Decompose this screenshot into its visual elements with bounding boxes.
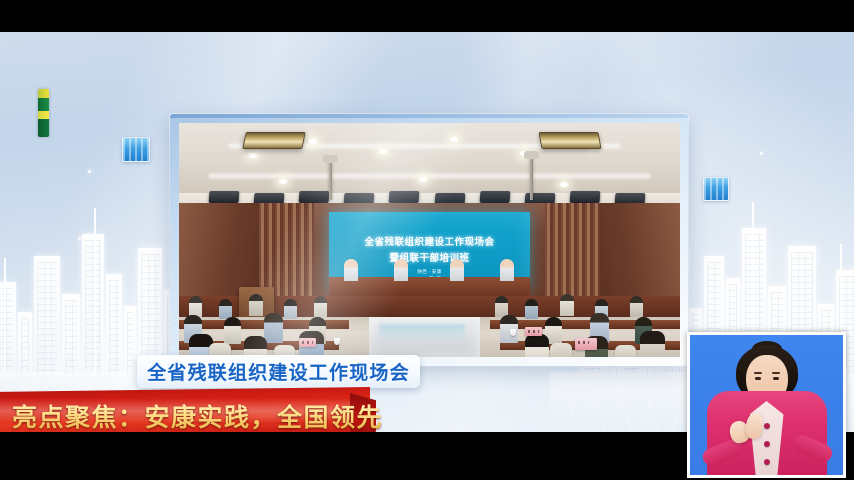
water-cup (510, 329, 516, 336)
lower-third-ribbon: 亮点聚焦：安康实践，全国领先 (0, 387, 370, 432)
sign-language-window (687, 332, 846, 478)
wood-panel-left (179, 203, 264, 297)
blue-glyph-right (703, 177, 729, 201)
ceiling-lamp (538, 132, 601, 149)
channel-logo-icon (38, 89, 49, 137)
broadcast-screen: 全省残联组织建设工作现场会 暨组联干部培训班 陕西 · 安康 2024年8月 (0, 0, 854, 480)
conference-photo-frame: 全省残联组织建设工作现场会 暨组联干部培训班 陕西 · 安康 2024年8月 (170, 114, 688, 366)
letterbox-top-bar (0, 0, 854, 32)
floor-reflection (379, 324, 464, 343)
blue-glyph-left (122, 137, 150, 162)
lower-third-title-pill: 全省残联组织建设工作现场会 (137, 355, 420, 388)
mic-mast (329, 160, 332, 200)
stage-curtain-right (545, 203, 600, 301)
ribbon-headline-text: 亮点聚焦：安康实践，全国领先 (12, 387, 383, 432)
wood-panel-right (595, 203, 680, 297)
sign-language-feed (690, 335, 843, 475)
sparkle-dot (88, 170, 91, 173)
lower-third-title-text: 全省残联组织建设工作现场会 (147, 358, 410, 385)
desk-name-card (299, 338, 316, 347)
desk-name-card (575, 338, 597, 350)
ceiling-lamp (242, 132, 306, 149)
mic-mast (530, 156, 533, 200)
led-title-line2: 暨组联干部培训班 (329, 250, 529, 264)
sparkle-dot (78, 237, 81, 240)
conference-photo: 全省残联组织建设工作现场会 暨组联干部培训班 陕西 · 安康 2024年8月 (179, 123, 680, 357)
sparkle-dot (760, 152, 763, 155)
led-title-line1: 全省残联组织建设工作现场会 (329, 234, 529, 248)
desk-name-card (525, 327, 542, 336)
